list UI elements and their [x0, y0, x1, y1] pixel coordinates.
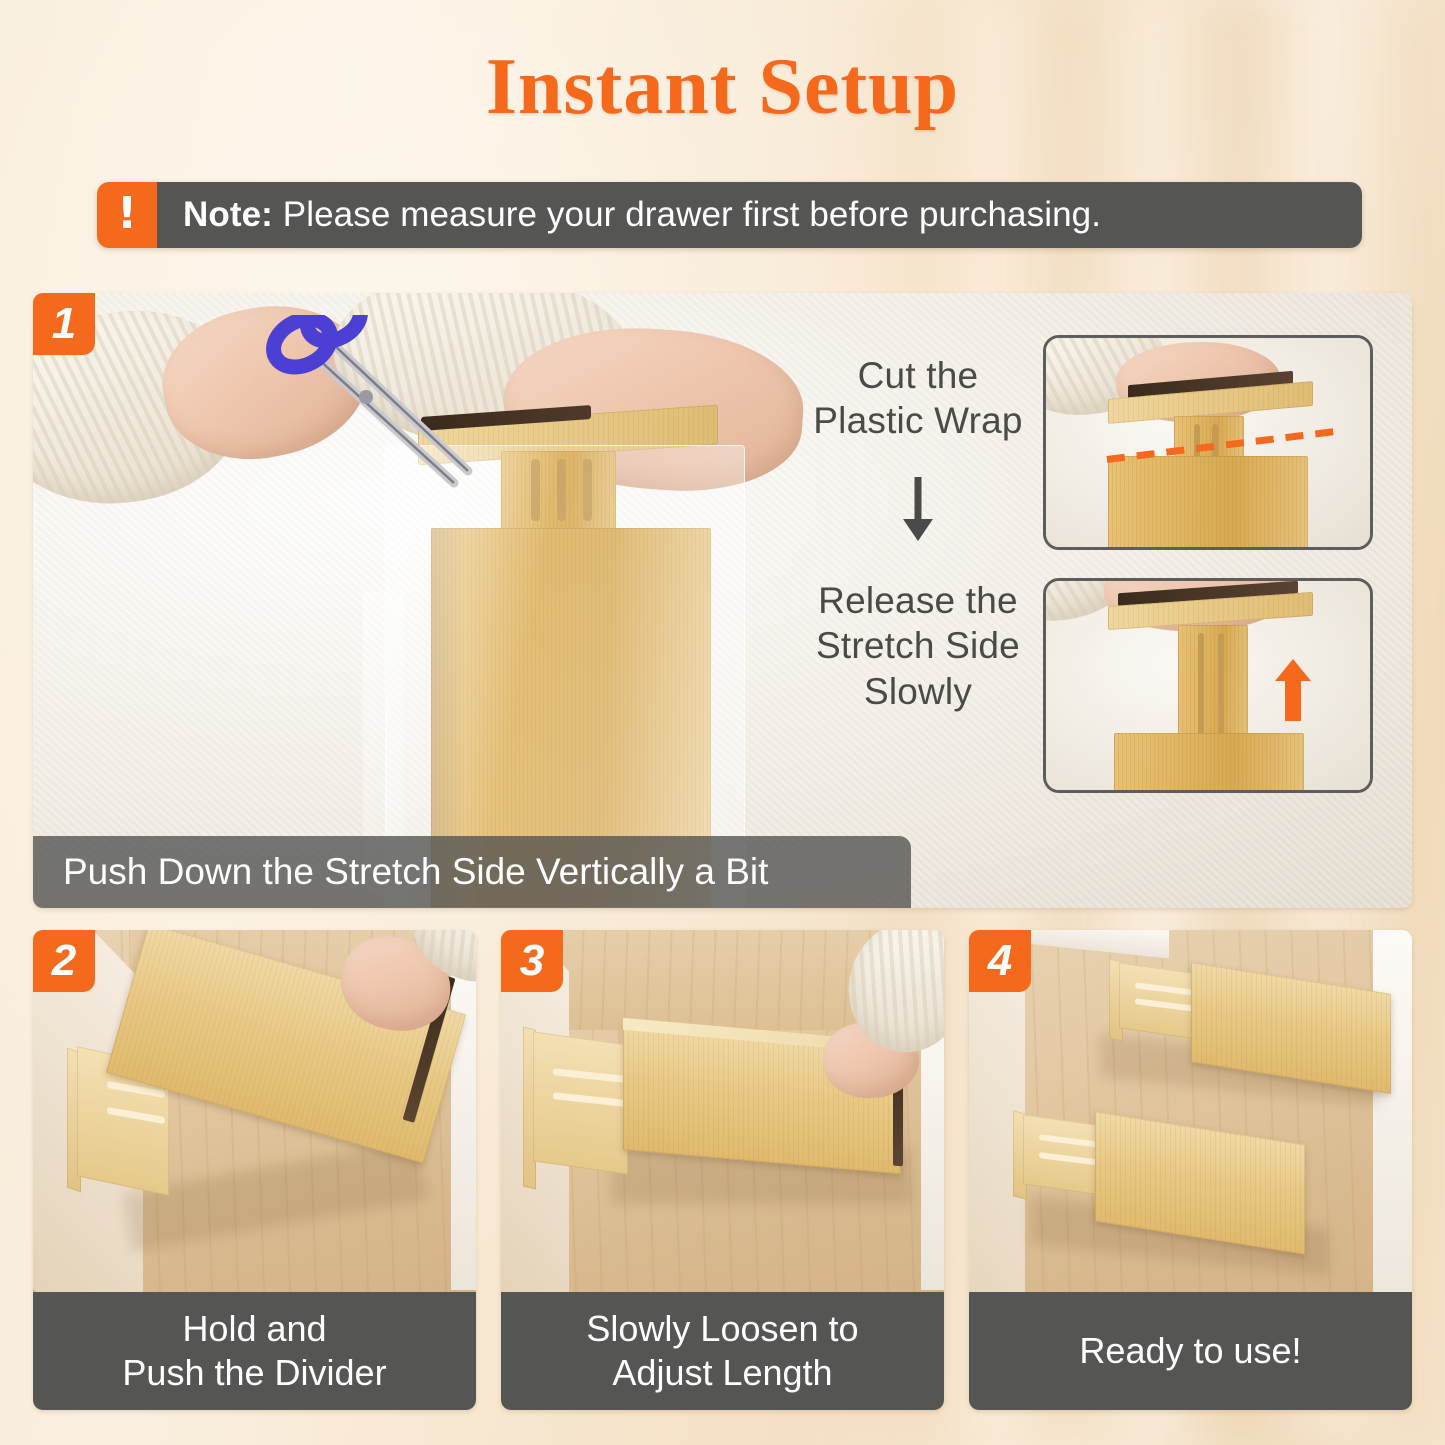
instruction-line-2: Plastic Wrap: [778, 398, 1058, 443]
scissors-icon: [238, 315, 498, 535]
instruction2-line-1: Release the: [778, 578, 1058, 623]
step-2-number: 2: [52, 939, 76, 983]
inset-bottom-slot-2: [1218, 633, 1224, 745]
step-3-caption-line-2: Adjust Length: [586, 1351, 858, 1395]
step-4-panel: 4 Ready to use!: [969, 930, 1412, 1410]
step-4-number-badge: 4: [969, 930, 1031, 992]
push-down-inset: [1043, 335, 1373, 550]
step-4-number: 4: [988, 939, 1012, 983]
page-title: Instant Setup: [0, 42, 1445, 133]
rail-slot-3: [583, 459, 592, 521]
orange-up-arrow-icon: [1274, 659, 1312, 721]
step-4-caption: Ready to use!: [969, 1292, 1412, 1410]
drawer-right-edge: [1373, 930, 1412, 1320]
instruction2-line-2: Stretch Side: [778, 623, 1058, 668]
note-text: Note: Please measure your drawer first b…: [183, 195, 1101, 235]
step-1-panel: Cut the Plastic Wrap Release the Stretch…: [33, 293, 1412, 908]
step-3-caption-line-1: Slowly Loosen to: [586, 1307, 858, 1351]
step-3-panel: 3 Slowly Loosen to Adjust Length: [501, 930, 944, 1410]
rail-slot-2: [557, 459, 566, 521]
step-1-number-badge: 1: [33, 293, 95, 355]
release-inset: [1043, 578, 1373, 793]
drawer-right-edge: [451, 930, 476, 1290]
step-3-number: 3: [520, 939, 544, 983]
step-3-caption: Slowly Loosen to Adjust Length: [501, 1292, 944, 1410]
inset-top-board: [1108, 456, 1308, 550]
down-arrow-icon: [901, 477, 935, 543]
step-3-number-badge: 3: [501, 930, 563, 992]
inset-bottom-slot-1: [1198, 633, 1204, 745]
exclamation-glyph: !: [117, 192, 137, 236]
step-2-caption-line-1: Hold and: [122, 1307, 386, 1351]
instruction-line-1: Cut the: [778, 353, 1058, 398]
note-body: Note: Please measure your drawer first b…: [157, 182, 1362, 248]
step-2-number-badge: 2: [33, 930, 95, 992]
note-banner: ! Note: Please measure your drawer first…: [97, 182, 1362, 248]
exclamation-icon: !: [97, 182, 157, 248]
step-1-number: 1: [52, 302, 76, 346]
inset-bottom-board: [1114, 733, 1304, 793]
step-1-caption: Push Down the Stretch Side Vertically a …: [33, 836, 911, 908]
rail-slot-1: [531, 459, 540, 521]
instruction2-line-3: Slowly: [778, 669, 1058, 714]
infographic-page: Instant Setup ! Note: Please measure you…: [0, 0, 1445, 1445]
step-2-panel: 2 Hold and Push the Divider: [33, 930, 476, 1410]
step-2-caption: Hold and Push the Divider: [33, 1292, 476, 1410]
step-2-caption-line-2: Push the Divider: [122, 1351, 386, 1395]
step-4-caption-line-1: Ready to use!: [1079, 1329, 1301, 1373]
note-rest: Please measure your drawer first before …: [273, 195, 1101, 234]
note-label: Note:: [183, 195, 273, 234]
step-1-instructions: Cut the Plastic Wrap Release the Stretch…: [778, 353, 1058, 714]
